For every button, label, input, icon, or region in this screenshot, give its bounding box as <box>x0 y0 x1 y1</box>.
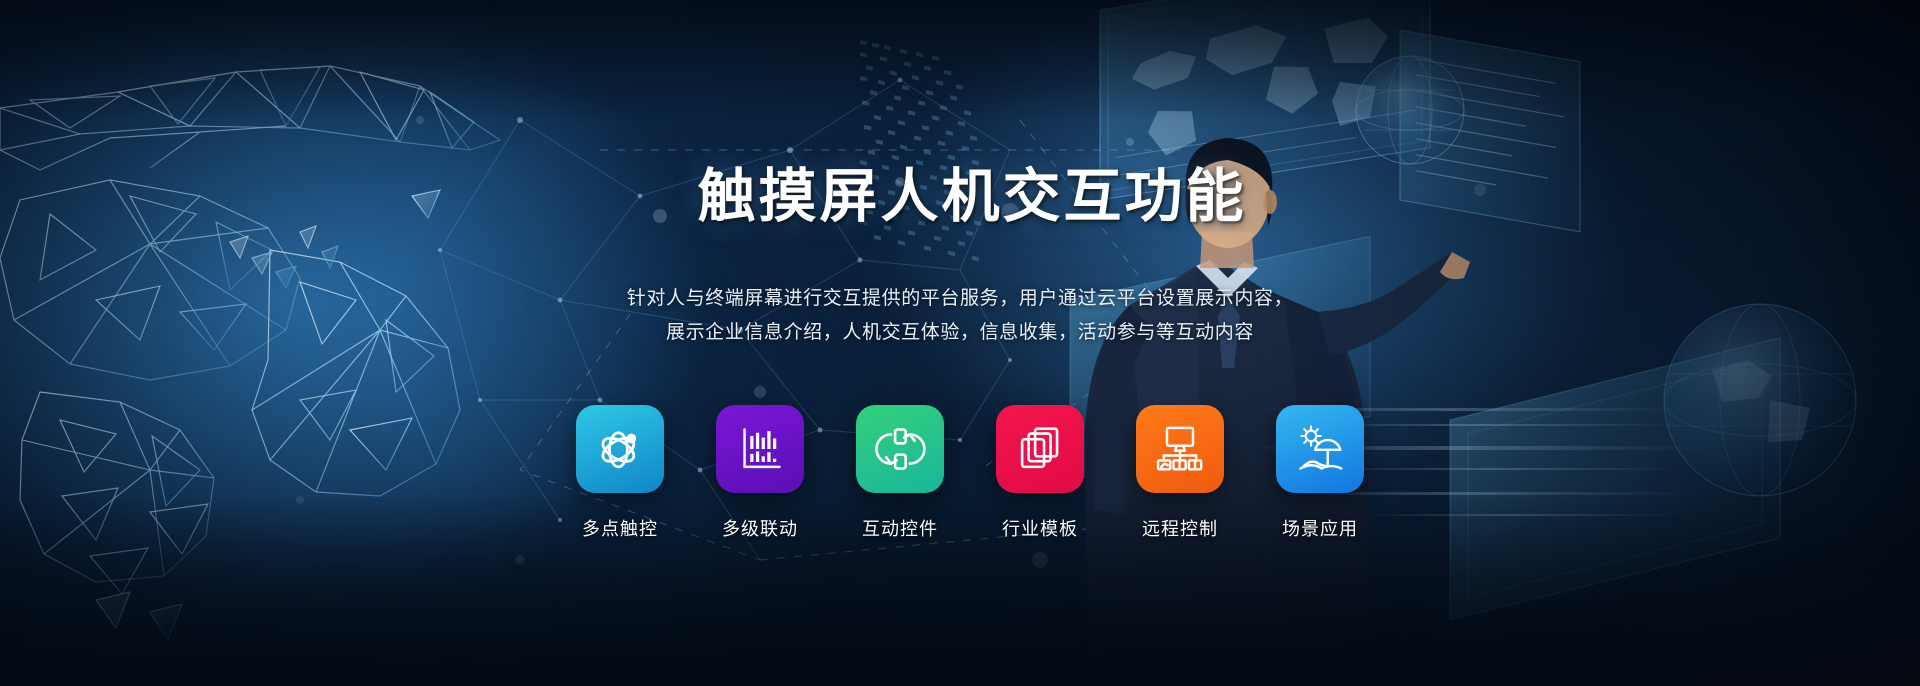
feature-tile-remote-control[interactable] <box>1136 405 1224 493</box>
feature-list: 多点触控 <box>0 405 1920 541</box>
feature-tile-scene-application[interactable] <box>1276 405 1364 493</box>
hero-banner: 触摸屏人机交互功能 针对人与终端屏幕进行交互提供的平台服务，用户通过云平台设置展… <box>0 0 1920 686</box>
bar-chart-icon <box>734 423 786 475</box>
feature-label: 远程控制 <box>1142 515 1218 541</box>
feature-item-multilevel-linkage[interactable]: 多级联动 <box>716 405 804 541</box>
feature-item-scene-application[interactable]: 场景应用 <box>1276 405 1364 541</box>
feature-item-interactive-widgets[interactable]: 互动控件 <box>856 405 944 541</box>
beach-scene-icon <box>1294 423 1346 475</box>
feature-item-industry-template[interactable]: 行业模板 <box>996 405 1084 541</box>
subtitle-line-2: 展示企业信息介绍，人机交互体验，信息收集，活动参与等互动内容 <box>0 316 1920 350</box>
feature-tile-interactive-widgets[interactable] <box>856 405 944 493</box>
feature-label: 多点触控 <box>582 515 658 541</box>
template-stack-icon <box>1014 423 1066 475</box>
banner-subtitle: 针对人与终端屏幕进行交互提供的平台服务，用户通过云平台设置展示内容， 展示企业信… <box>0 282 1920 350</box>
feature-label: 多级联动 <box>722 515 798 541</box>
atom-icon <box>594 423 646 475</box>
sync-widgets-icon <box>874 423 926 475</box>
subtitle-line-1: 针对人与终端屏幕进行交互提供的平台服务，用户通过云平台设置展示内容， <box>0 282 1920 316</box>
banner-title: 触摸屏人机交互功能 <box>0 166 1920 228</box>
feature-tile-multitouch[interactable] <box>576 405 664 493</box>
feature-label: 场景应用 <box>1282 515 1358 541</box>
feature-label: 行业模板 <box>1002 515 1078 541</box>
feature-item-remote-control[interactable]: 远程控制 <box>1136 405 1224 541</box>
feature-item-multitouch[interactable]: 多点触控 <box>576 405 664 541</box>
banner-content: 触摸屏人机交互功能 针对人与终端屏幕进行交互提供的平台服务，用户通过云平台设置展… <box>0 0 1920 686</box>
feature-label: 互动控件 <box>862 515 938 541</box>
remote-monitor-icon <box>1154 423 1206 475</box>
feature-tile-industry-template[interactable] <box>996 405 1084 493</box>
feature-tile-multilevel-linkage[interactable] <box>716 405 804 493</box>
